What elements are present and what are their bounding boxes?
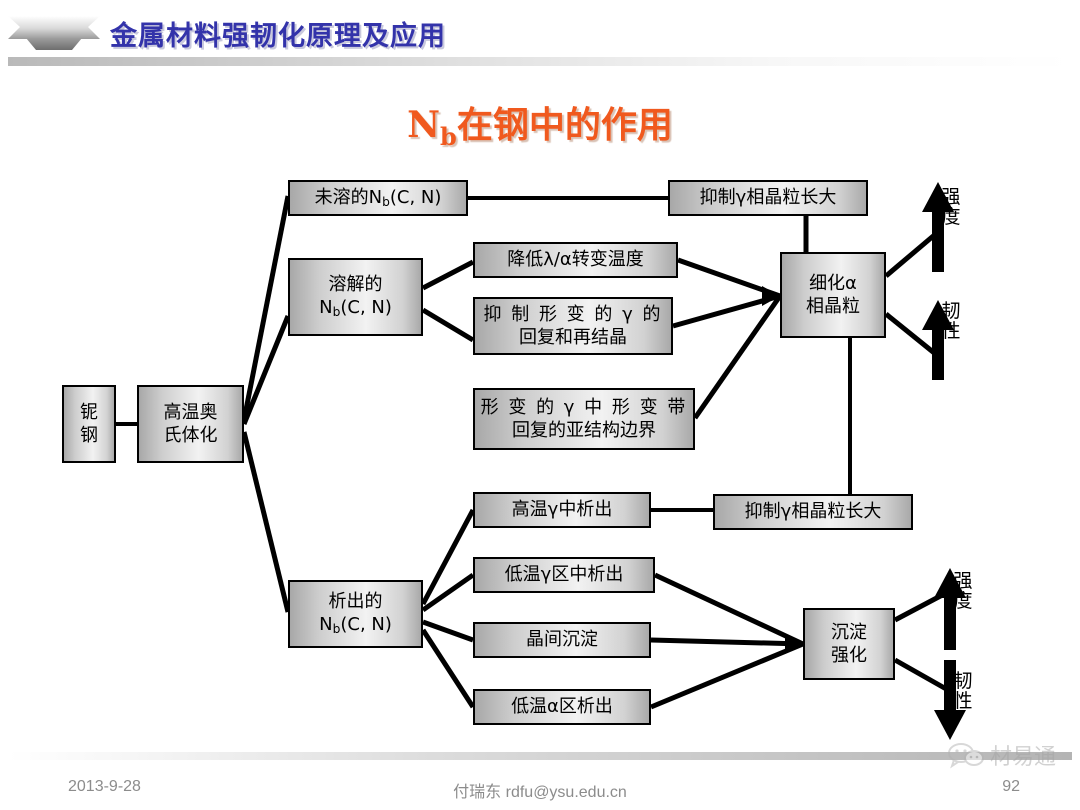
node-suppress-grain-top: 抑制γ相晶粒长大	[668, 180, 868, 216]
node-label: Nb(C, N)	[319, 296, 392, 321]
arrow-label-char: 韧	[940, 302, 962, 322]
node-austenitizing: 高温奥氏体化	[137, 385, 244, 463]
arrow-label-char: 性	[940, 322, 962, 342]
node-label: 降低λ/α转变温度	[507, 248, 644, 271]
arrow-label-char: 性	[952, 692, 974, 712]
arrow-label-strength-top: 强度	[940, 188, 962, 228]
node-label: 低温γ区中析出	[505, 563, 624, 586]
arrow-label-char: 韧	[952, 672, 974, 692]
node-refine-alpha: 细化α相晶粒	[780, 252, 886, 338]
node-suppress-recov: 抑 制 形 变 的 γ 的回复和再结晶	[473, 297, 673, 355]
node-label: 相晶粒	[806, 295, 860, 318]
node-precipitated-nb: 析出的Nb(C, N)	[288, 580, 423, 648]
node-low-temp-alpha: 低温α区析出	[473, 689, 651, 725]
node-precip-strength: 沉淀强化	[803, 608, 895, 680]
node-dissolved-nb: 溶解的Nb(C, N)	[288, 258, 423, 336]
node-label: 回复的亚结构边界	[512, 419, 656, 442]
node-label: 形 变 的 γ 中 形 变 带	[481, 396, 688, 419]
arrow-label-char: 度	[940, 208, 962, 228]
node-high-temp-prec: 高温γ中析出	[473, 492, 651, 528]
node-label: 氏体化	[164, 424, 218, 447]
node-undissolved-nb: 未溶的Nb(C, N)	[288, 180, 468, 216]
arrow-label-toughness-top: 韧性	[940, 302, 962, 342]
node-deform-band: 形 变 的 γ 中 形 变 带回复的亚结构边界	[473, 388, 695, 450]
node-nb-steel: 铌钢	[62, 385, 116, 463]
node-label: 高温奥	[164, 401, 218, 424]
node-label: 晶间沉淀	[526, 628, 598, 651]
node-label: 溶解的	[329, 273, 383, 296]
node-label: 低温α区析出	[511, 695, 613, 718]
node-label: 高温γ中析出	[512, 498, 613, 521]
arrow-label-char: 强	[940, 188, 962, 208]
indicator-arrows	[922, 182, 966, 740]
node-label: 抑 制 形 变 的 γ 的	[484, 303, 663, 326]
node-label: Nb(C, N)	[319, 613, 392, 638]
arrow-label-char: 强	[952, 572, 974, 592]
node-label: 细化α	[809, 272, 857, 295]
node-suppress-grain-bottom: 抑制γ相晶粒长大	[713, 494, 913, 530]
node-label: 析出的	[329, 590, 383, 613]
node-lower-temp: 降低λ/α转变温度	[473, 242, 678, 278]
node-label: 铌	[80, 401, 98, 424]
arrow-label-toughness-bottom: 韧性	[952, 672, 974, 712]
node-label: 抑制γ相晶粒长大	[745, 500, 882, 523]
node-intergranular: 晶间沉淀	[473, 622, 651, 658]
node-label: 沉淀	[831, 621, 867, 644]
node-low-temp-gamma: 低温γ区中析出	[473, 557, 655, 593]
arrow-label-strength-bottom: 强度	[952, 572, 974, 612]
node-label: 抑制γ相晶粒长大	[700, 186, 837, 209]
node-label: 钢	[80, 424, 98, 447]
node-label: 强化	[831, 644, 867, 667]
node-label: 回复和再结晶	[519, 326, 627, 349]
arrow-label-char: 度	[952, 592, 974, 612]
slide-canvas: 金属材料强韧化原理及应用 Nb在钢中的作用	[0, 0, 1080, 810]
node-label: 未溶的Nb(C, N)	[315, 186, 442, 211]
